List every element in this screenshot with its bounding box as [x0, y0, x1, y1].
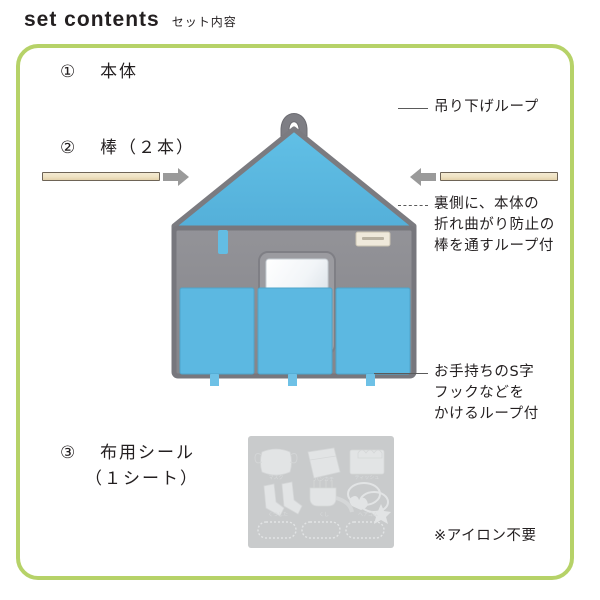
- blank-label-row: [258, 522, 384, 538]
- callout-hanging-loop: 吊り下げループ: [434, 97, 539, 118]
- item-text-1: 本体: [100, 62, 138, 82]
- sticker-caption-3: ティッシュ: [355, 475, 380, 481]
- handkerchief-icon: [308, 448, 340, 478]
- leader-line-hanging-loop: [398, 108, 428, 109]
- page-title-english: set contents: [24, 8, 160, 32]
- blank-label-3: [346, 522, 384, 538]
- pocket-left: [180, 288, 254, 374]
- item-number-1: ①: [60, 62, 77, 82]
- item-number-2: ②: [60, 138, 77, 158]
- sticker-sheet: マスク ハンカチ ティッシュ くつした くし ヘアゴム: [248, 436, 394, 548]
- callout-s-hook-line2: フックなどを: [434, 383, 525, 404]
- blank-label-2: [302, 522, 340, 538]
- callout-s-hook-line3: かけるループ付: [434, 404, 539, 425]
- callout-back-loop-line3: 棒を通すループ付: [434, 236, 554, 257]
- face-mask-icon: [255, 449, 297, 475]
- roof-blue-panel: [174, 129, 414, 236]
- item-label-3-line2: （１シート）: [85, 464, 199, 489]
- iron-not-required-note: ※アイロン不要: [434, 524, 537, 545]
- leader-line-s-hook-loop: [374, 373, 428, 374]
- item-label-1: ① 本体: [60, 57, 138, 82]
- sticker-caption-6: ヘアゴム: [358, 511, 378, 518]
- pocket-center: [258, 288, 332, 374]
- product-contents-diagram: set contents セット内容 ① 本体 ② 棒（２本） ③ 布用シール …: [0, 0, 600, 600]
- loop-right: [366, 374, 375, 386]
- leader-line-back-loop: [398, 205, 428, 206]
- blank-label-1: [258, 522, 296, 538]
- pocket-right: [336, 288, 410, 374]
- brand-tag-text: [362, 237, 384, 240]
- callout-back-loop-line1: 裏側に、本体の: [434, 194, 539, 215]
- sticker-caption-4: くつした: [268, 512, 288, 518]
- loop-center: [288, 374, 297, 386]
- product-illustration: [168, 96, 420, 386]
- page-title-japanese: セット内容: [172, 13, 237, 30]
- loop-left: [210, 374, 219, 386]
- rod-right: [440, 172, 558, 181]
- item-text-3: 布用シール: [100, 443, 195, 463]
- bottom-pocket-row: [180, 288, 410, 374]
- small-blue-tab: [218, 230, 228, 254]
- rod-left: [42, 172, 160, 181]
- callout-back-loop-line2: 折れ曲がり防止の: [434, 215, 555, 236]
- item-number-3: ③: [60, 443, 77, 463]
- comb-icon: [310, 480, 352, 512]
- tissue-pack-icon: [350, 450, 384, 474]
- socks-icon: [264, 482, 302, 516]
- sticker-caption-2: ハンカチ: [314, 477, 334, 483]
- page-header: set contents セット内容: [24, 8, 237, 32]
- callout-s-hook-line1: お手持ちのS字: [434, 362, 534, 383]
- sticker-caption-5: くし: [319, 512, 329, 518]
- sticker-caption-1: マスク: [268, 475, 283, 481]
- item-label-3: ③ 布用シール: [60, 438, 195, 463]
